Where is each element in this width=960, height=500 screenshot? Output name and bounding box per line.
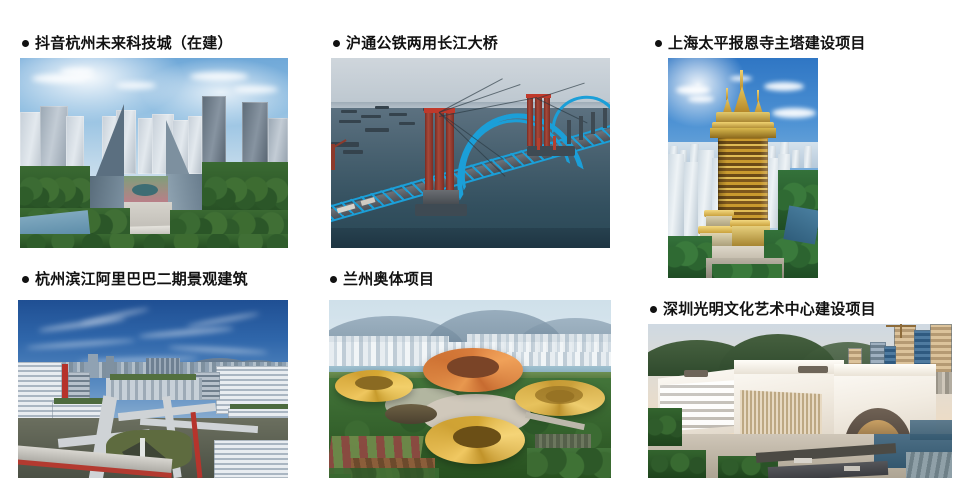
bullet-icon [333, 40, 340, 47]
project-card-alibaba-binjiang: 杭州滨江阿里巴巴二期景观建筑 [0, 260, 320, 500]
project-title: 沪通公铁两用长江大桥 [346, 36, 498, 51]
bullet-icon [330, 276, 337, 283]
project-title: 杭州滨江阿里巴巴二期景观建筑 [35, 272, 248, 287]
project-caption: 沪通公铁两用长江大桥 [333, 36, 498, 51]
bullet-icon [22, 276, 29, 283]
project-image-taiping-baoen[interactable] [668, 58, 818, 278]
project-caption: 抖音杭州未来科技城（在建） [22, 36, 233, 51]
project-image-shenzhen-guangming[interactable] [648, 324, 952, 478]
project-image-hutong-bridge[interactable] [331, 58, 610, 248]
project-title: 抖音杭州未来科技城（在建） [35, 36, 233, 51]
project-image-lanzhou-olympic[interactable] [329, 300, 611, 478]
project-card-lanzhou-olympic: 兰州奥体项目 [320, 260, 620, 500]
project-title: 上海太平报恩寺主塔建设项目 [668, 36, 866, 51]
bullet-icon [655, 40, 662, 47]
project-card-taiping-baoen: 上海太平报恩寺主塔建设项目 [645, 0, 960, 290]
project-card-shenzhen-guangming: 深圳光明文化艺术中心建设项目 [645, 260, 960, 500]
project-card-hutong-bridge: 沪通公铁两用长江大桥 [320, 0, 620, 260]
project-image-douyin-hangzhou[interactable] [20, 58, 288, 248]
project-caption: 深圳光明文化艺术中心建设项目 [650, 302, 876, 317]
bullet-icon [22, 40, 29, 47]
project-caption: 上海太平报恩寺主塔建设项目 [655, 36, 866, 51]
project-caption: 杭州滨江阿里巴巴二期景观建筑 [22, 272, 248, 287]
project-image-alibaba-binjiang[interactable] [18, 300, 288, 478]
project-title: 深圳光明文化艺术中心建设项目 [663, 302, 876, 317]
bullet-icon [650, 306, 657, 313]
gallery-stage: 抖音杭州未来科技城（在建） [0, 0, 960, 500]
project-title: 兰州奥体项目 [343, 272, 434, 287]
project-caption: 兰州奥体项目 [330, 272, 434, 287]
project-card-douyin-hangzhou: 抖音杭州未来科技城（在建） [0, 0, 320, 260]
